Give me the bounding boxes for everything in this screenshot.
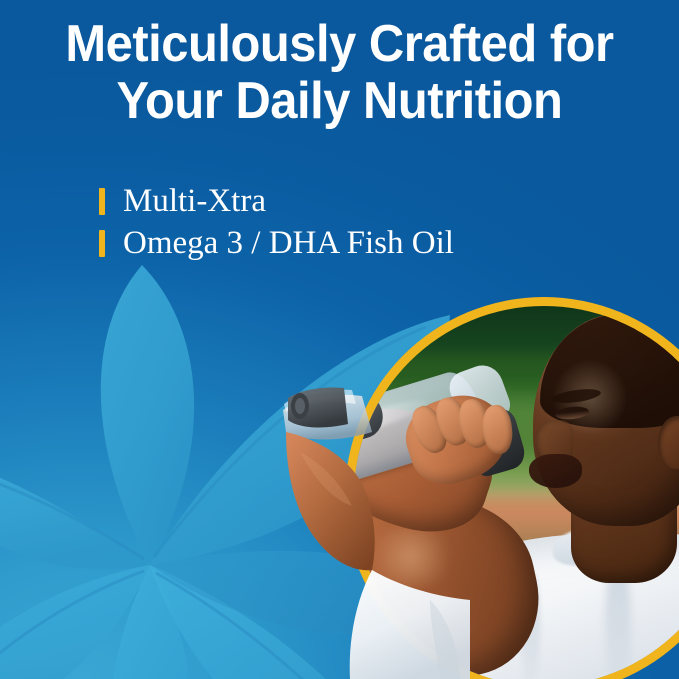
headline-line-1: Meticulously Crafted for	[20, 16, 658, 73]
photo-image	[354, 306, 679, 679]
feature-label: Omega 3 / DHA Fish Oil	[123, 225, 454, 261]
list-item: Multi-Xtra	[99, 180, 619, 222]
feature-label: Multi-Xtra	[123, 183, 266, 219]
subject-lips	[529, 454, 582, 488]
bullet-bar-icon	[99, 230, 105, 257]
feature-list: Multi-Xtra Omega 3 / DHA Fish Oil	[99, 180, 619, 264]
photo-subject	[354, 306, 679, 679]
subject-arm-highlight	[362, 526, 461, 587]
bullet-bar-icon	[99, 188, 105, 215]
promotional-banner: Meticulously Crafted for Your Daily Nutr…	[0, 0, 679, 679]
list-item: Omega 3 / DHA Fish Oil	[99, 222, 619, 264]
photo-circle	[345, 297, 679, 679]
headline: Meticulously Crafted for Your Daily Nutr…	[20, 16, 658, 130]
headline-line-2: Your Daily Nutrition	[20, 73, 658, 130]
